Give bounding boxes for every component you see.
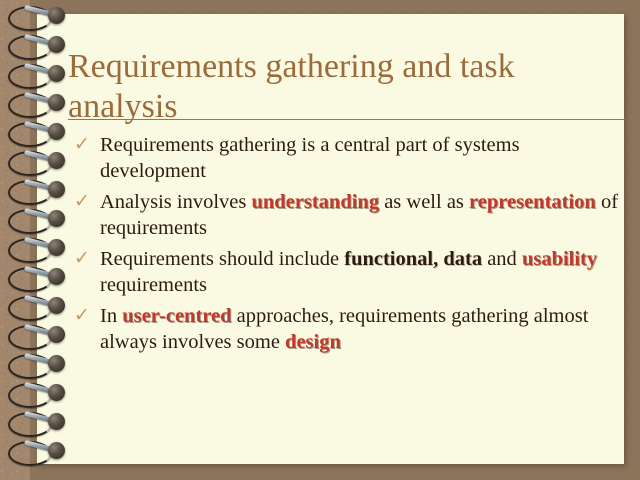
notebook-page: Requirements gathering and task analysis… [37, 14, 624, 464]
bullet-item: ✓In user-centred approaches, requirement… [68, 303, 628, 355]
bullet-item: ✓Requirements gathering is a central par… [68, 132, 628, 184]
bullet-item: ✓Requirements should include functional,… [68, 246, 628, 298]
title-underline-rule [68, 119, 625, 120]
text-run: Requirements gathering is a central part… [100, 134, 520, 182]
text-run: Requirements should include [100, 248, 344, 270]
slide-title: Requirements gathering and task analysis [68, 47, 598, 127]
text-run: and [482, 248, 522, 270]
emphasis-run: usability [522, 248, 597, 270]
emphasis-run: understanding [251, 191, 379, 213]
bullet-text: In user-centred approaches, requirements… [100, 305, 588, 353]
check-mark-icon: ✓ [74, 303, 90, 329]
emphasis-run: design [285, 331, 341, 353]
bullet-list: ✓Requirements gathering is a central par… [68, 132, 628, 360]
bullet-text: Requirements gathering is a central part… [100, 134, 520, 182]
text-run: requirements [100, 274, 207, 296]
binder-strip [0, 0, 30, 480]
bullet-text: Analysis involves understanding as well … [100, 191, 618, 239]
bullet-text: Requirements should include functional, … [100, 248, 597, 296]
text-run: as well as [379, 191, 469, 213]
check-mark-icon: ✓ [74, 189, 90, 215]
bullet-item: ✓Analysis involves understanding as well… [68, 189, 628, 241]
emphasis-run: user-centred [122, 305, 231, 327]
presentation-slide: Requirements gathering and task analysis… [0, 0, 640, 480]
check-mark-icon: ✓ [74, 132, 90, 158]
text-run: In [100, 305, 122, 327]
check-mark-icon: ✓ [74, 246, 90, 272]
emphasis-run: representation [469, 191, 596, 213]
text-run: Analysis involves [100, 191, 251, 213]
slide-content: Requirements gathering and task analysis… [37, 14, 624, 464]
emphasis-run: functional, data [344, 248, 482, 270]
